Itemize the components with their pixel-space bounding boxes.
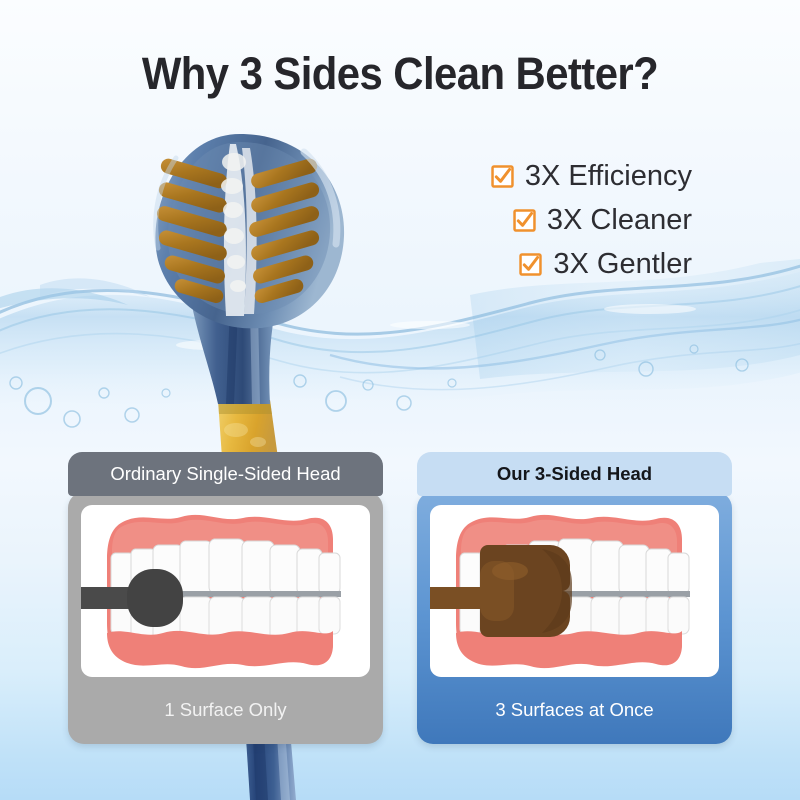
- water-crest-line: [340, 341, 800, 390]
- checkbox-checked-icon: [513, 209, 536, 232]
- benefit-item-cleaner: 3X Cleaner: [513, 204, 692, 237]
- benefits-checklist: 3X Efficiency 3X Cleaner 3X Gentler: [491, 160, 692, 281]
- comparison-panel-ordinary: Ordinary Single-Sided Head: [68, 452, 383, 744]
- page-title: Why 3 Sides Clean Better?: [28, 48, 772, 100]
- water-highlights-group: [176, 304, 696, 350]
- benefit-item-efficiency: 3X Efficiency: [491, 160, 692, 193]
- benefit-label: 3X Cleaner: [547, 204, 692, 237]
- water-spray-shape: [0, 288, 128, 311]
- gums-lower-shape: [107, 631, 333, 668]
- brush-bristles-right-group: [247, 157, 320, 305]
- water-crest-line: [0, 307, 800, 373]
- water-bubbles-group: [10, 345, 748, 427]
- teeth-three-sided-icon: [430, 505, 719, 677]
- brush-center-ridge-highlight: [242, 148, 257, 314]
- benefit-label: 3X Gentler: [553, 248, 692, 281]
- water-crest-line: [0, 283, 800, 352]
- benefit-item-gentler: 3X Gentler: [519, 248, 692, 281]
- diagram-three-sided-brushing: [430, 505, 719, 677]
- teeth-single-sided-icon: [81, 505, 370, 677]
- brush-grip-shape: [218, 400, 278, 458]
- panel-caption-ours: 3 Surfaces at Once: [430, 677, 719, 743]
- brush-white-bristles-group: [221, 153, 246, 292]
- brush-head-shape: [127, 569, 183, 627]
- brush-neck-shape: [190, 296, 278, 404]
- panel-caption-ordinary: 1 Surface Only: [81, 677, 370, 743]
- water-spray-shape: [40, 278, 150, 297]
- panel-body-ordinary: 1 Surface Only: [68, 492, 383, 744]
- water-sheet-shape: [0, 269, 800, 405]
- brush-neck-groove: [226, 308, 238, 404]
- brush-grip-highlight: [250, 437, 266, 447]
- brush-neck-highlight: [250, 308, 260, 404]
- comparison-panel-ours: Our 3-Sided Head: [417, 452, 732, 744]
- brush-center-ridge: [224, 144, 246, 316]
- checkbox-checked-icon: [519, 253, 542, 276]
- water-crest-line: [330, 317, 800, 369]
- brush-head-gloss: [156, 158, 176, 248]
- brush-head-gloss: [304, 152, 337, 244]
- checkbox-checked-icon: [491, 165, 514, 188]
- brush-head-three-sided: [430, 545, 572, 637]
- brush-head-inner: [168, 142, 330, 314]
- brush-head-highlight: [492, 562, 528, 580]
- panel-body-ours: 3 Surfaces at Once: [417, 492, 732, 744]
- benefit-label: 3X Efficiency: [525, 160, 692, 193]
- panel-header-ours: Our 3-Sided Head: [417, 452, 732, 496]
- promo-image-canvas: Why 3 Sides Clean Better? 3X Efficiency …: [0, 0, 800, 800]
- brush-grip-highlight: [224, 423, 248, 437]
- brush-head-shape: [155, 134, 344, 328]
- brush-grip-band: [218, 400, 272, 414]
- panel-header-ordinary: Ordinary Single-Sided Head: [68, 452, 383, 496]
- diagram-single-sided-brushing: [81, 505, 370, 677]
- brush-bristles-left-group: [155, 157, 228, 305]
